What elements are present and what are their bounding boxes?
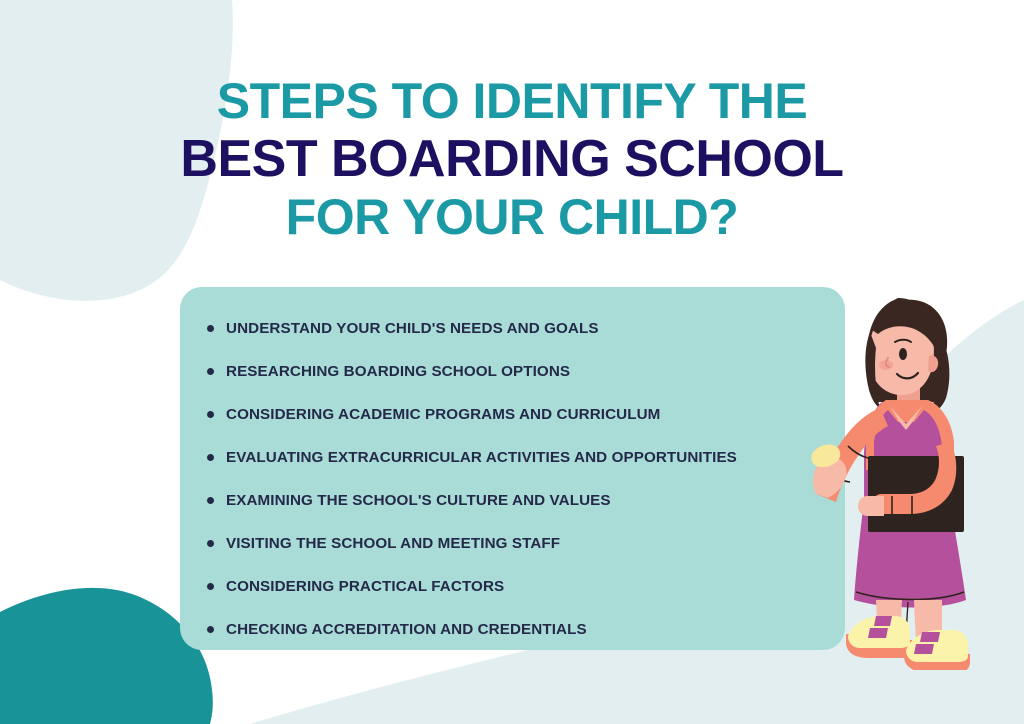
list-item-label: CONSIDERING PRACTICAL FACTORS [226,578,504,595]
steps-card: UNDERSTAND YOUR CHILD'S NEEDS AND GOALS … [180,287,845,650]
list-item: EVALUATING EXTRACURRICULAR ACTIVITIES AN… [207,436,827,479]
list-item-label: CHECKING ACCREDITATION AND CREDENTIALS [226,621,587,638]
list-item: VISITING THE SCHOOL AND MEETING STAFF [207,522,827,565]
poster-canvas: STEPS TO IDENTIFY THE BEST BOARDING SCHO… [0,0,1024,724]
list-item: RESEARCHING BOARDING SCHOOL OPTIONS [207,350,827,393]
list-item-label: VISITING THE SCHOOL AND MEETING STAFF [226,535,560,552]
list-item: CHECKING ACCREDITATION AND CREDENTIALS [207,608,827,651]
steps-list: UNDERSTAND YOUR CHILD'S NEEDS AND GOALS … [207,307,827,651]
list-item: UNDERSTAND YOUR CHILD'S NEEDS AND GOALS [207,307,827,350]
title-line-2: BEST BOARDING SCHOOL [0,130,1024,188]
title-line-3: FOR YOUR CHILD? [0,188,1024,246]
shoe-left-strap-2 [868,628,888,638]
girl-pointing-illustration [790,270,1024,670]
list-item-label: RESEARCHING BOARDING SCHOOL OPTIONS [226,363,570,380]
list-item-label: UNDERSTAND YOUR CHILD'S NEEDS AND GOALS [226,320,599,337]
bullet-icon [207,497,214,504]
bullet-icon [207,454,214,461]
bullet-icon [207,626,214,633]
list-item-label: CONSIDERING ACADEMIC PROGRAMS AND CURRIC… [226,406,660,423]
poster-title: STEPS TO IDENTIFY THE BEST BOARDING SCHO… [0,72,1024,246]
bullet-icon [207,540,214,547]
bullet-icon [207,411,214,418]
title-line-1: STEPS TO IDENTIFY THE [0,72,1024,130]
gripping-hand-shape [858,496,884,516]
shoe-right-strap-2 [914,644,934,654]
bullet-icon [207,368,214,375]
list-item-label: EXAMINING THE SCHOOL'S CULTURE AND VALUE… [226,492,611,509]
list-item: CONSIDERING PRACTICAL FACTORS [207,565,827,608]
shoe-left-strap-1 [874,616,892,626]
list-item: EXAMINING THE SCHOOL'S CULTURE AND VALUE… [207,479,827,522]
shoe-right-strap-1 [920,632,940,642]
list-item-label: EVALUATING EXTRACURRICULAR ACTIVITIES AN… [226,449,737,466]
eye-shape [899,348,907,360]
bullet-icon [207,325,214,332]
list-item: CONSIDERING ACADEMIC PROGRAMS AND CURRIC… [207,393,827,436]
bullet-icon [207,583,214,590]
